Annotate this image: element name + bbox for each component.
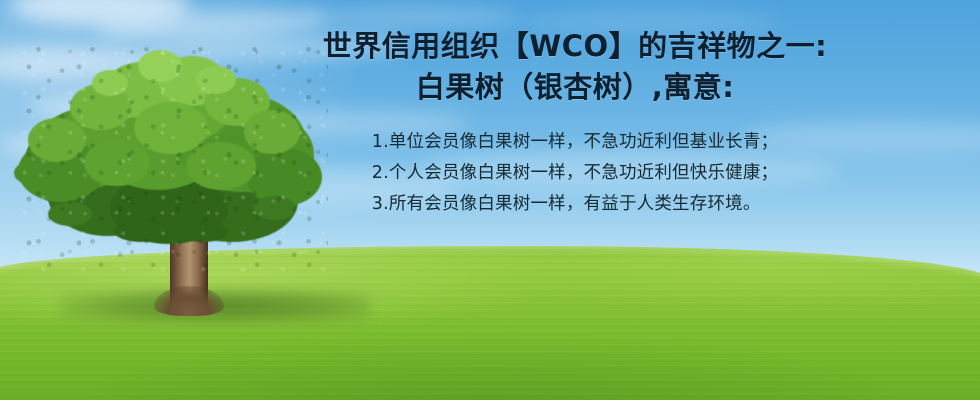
canopy-highlight [138,50,182,82]
canopy-highlight [134,102,208,154]
canopy-edge [114,220,168,242]
list-item-index: 3. [372,194,389,214]
list-item-text: 所有会员像白果树一样，有益于人类生存环境。 [389,194,761,214]
canopy-highlight [92,70,128,96]
canopy-edge [14,162,44,184]
list-item-text: 单位会员像白果树一样，不急功近利但基业长青； [389,132,778,152]
canopy-edge [178,222,228,242]
list-item: 3.所有会员像白果树一样，有益于人类生存环境。 [372,189,779,220]
headline-line-2: 白果树（银杏树）,寓意: [230,67,920,108]
banner-text-block: 世界信用组织【WCO】的吉祥物之一: 白果树（银杏树）,寓意: 1.单位会员像白… [230,26,920,220]
list-item-text: 个人会员像白果树一样，不急功近利但快乐健康； [389,163,778,183]
list-item: 2.个人会员像白果树一样，不急功近利但快乐健康； [372,158,779,189]
list-item: 1.单位会员像白果树一样，不急功近利但基业长青； [372,127,779,158]
list-item-index: 2. [372,163,389,183]
canopy-edge [48,202,92,226]
list-item-index: 1. [372,132,389,152]
headline-line-1: 世界信用组织【WCO】的吉祥物之一: [230,26,920,67]
canopy-highlight [28,118,86,162]
mascot-meaning-list: 1.单位会员像白果树一样，不急功近利但基业长青； 2.个人会员像白果树一样，不急… [372,127,779,220]
canopy-highlight [84,140,150,186]
wco-ginkgo-banner: 世界信用组织【WCO】的吉祥物之一: 白果树（银杏树）,寓意: 1.单位会员像白… [0,0,980,400]
